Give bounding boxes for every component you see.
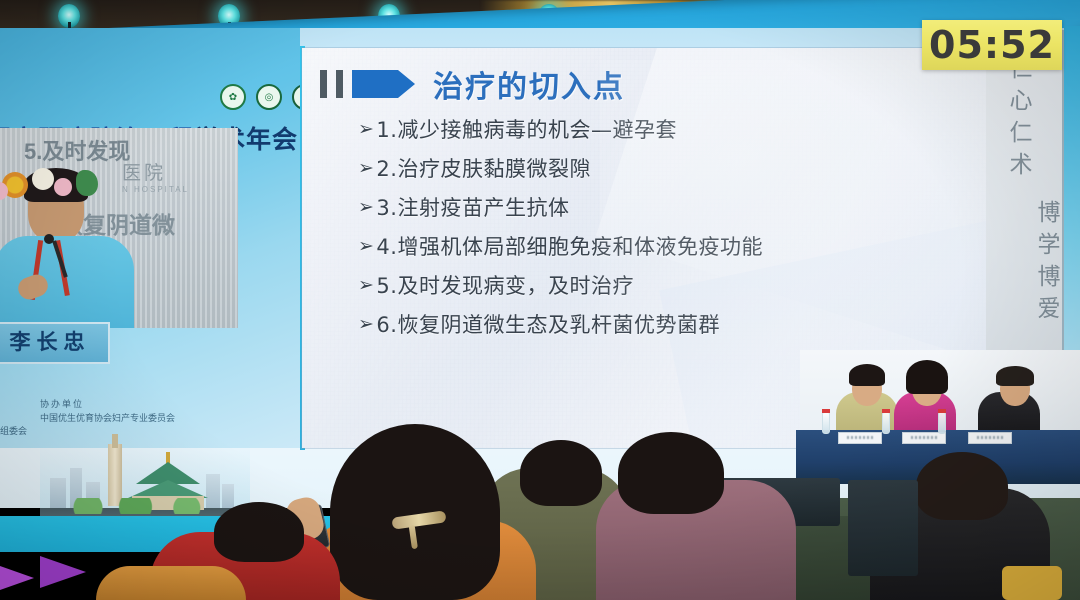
panelist-2-hair — [906, 360, 948, 394]
countdown-timer: 05:52 — [922, 20, 1062, 70]
hospital-logo-block: 医院 N HOSPITAL — [122, 158, 189, 194]
timer-value: 05:52 — [929, 23, 1055, 67]
water-bottle-cap — [882, 409, 890, 413]
bullet-marker-icon: ➢ — [358, 315, 374, 334]
audience-person-mauve-hair — [618, 432, 724, 514]
bullet-marker-icon: ➢ — [358, 198, 374, 217]
bullet-marker-icon: ➢ — [358, 120, 374, 139]
audience-person-front-hair — [330, 424, 500, 600]
speaker-nameplate: 李长忠 — [0, 322, 110, 364]
bullet-text: 4.增强机体局部细胞免疫和体液免疫功能 — [376, 237, 763, 258]
banner-column-1: 仁心仁术 — [1002, 56, 1036, 184]
panelist-1-name-card — [838, 432, 882, 444]
city-illustration — [40, 438, 250, 524]
emblem-1-icon: ✿ — [220, 84, 246, 110]
panelist-3-name-card — [968, 432, 1012, 444]
slide-bullet-6: ➢ 6.恢复阴道微生态及乳杆菌优势菌群 — [358, 315, 988, 336]
slide-bullet-1: ➢ 1.减少接触病毒的机会—避孕套 — [358, 120, 988, 141]
microphone-head — [44, 234, 54, 244]
water-bottle — [938, 412, 946, 434]
white-flower — [32, 168, 54, 190]
purple-arrow-graphic — [40, 556, 86, 588]
water-bottle — [882, 412, 890, 434]
bullet-marker-icon: ➢ — [358, 159, 374, 178]
sponsor-label: 协办单位 — [40, 398, 175, 412]
speaker-name: 李长忠 — [0, 324, 108, 362]
banner-column-2: 博学博爱 — [1030, 200, 1064, 328]
previous-slide-line-1: 5.及时发现 — [24, 134, 130, 166]
water-bottle-cap — [938, 409, 946, 413]
title-bar-icon — [320, 70, 327, 98]
slide-title-row: 治疗的切入点 — [320, 62, 625, 106]
bullet-text: 5.及时发现病变，及时治疗 — [376, 276, 634, 297]
title-arrow-icon — [352, 70, 398, 98]
tower-spire — [112, 434, 118, 448]
side-monitor — [848, 480, 918, 576]
slide-bullet-4: ➢ 4.增强机体局部细胞免疫和体液免疫功能 — [358, 237, 988, 258]
slide-title: 治疗的切入点 — [433, 62, 625, 106]
slide-bullet-3: ➢ 3.注射疫苗产生抗体 — [358, 198, 988, 219]
panelist-3-hair — [996, 366, 1034, 386]
emblem-2-icon: ◎ — [256, 84, 282, 110]
hospital-name-en: N HOSPITAL — [122, 185, 189, 194]
audience-person-red-hair — [214, 502, 304, 562]
foliage — [76, 170, 98, 196]
hospital-name-cn: 医院 — [122, 158, 189, 185]
chair-back — [1002, 566, 1062, 600]
audience-person-dark-hair — [916, 452, 1008, 520]
slide-bullet-list: ➢ 1.减少接触病毒的机会—避孕套 ➢ 2.治疗皮肤黏膜微裂隙 ➢ 3.注射疫苗… — [358, 120, 988, 354]
sponsor-name: 中国优生优育协会妇产专业委员会 — [40, 412, 175, 426]
slide-bullet-2: ➢ 2.治疗皮肤黏膜微裂隙 — [358, 159, 988, 180]
panelist-1-hair — [849, 364, 885, 386]
conference-hall-photo: ✿ ◎ ❋ 国宫颈癌防治工程学术年会 5.及时发现 恢复阴道微 李长忠 医院 N — [0, 0, 1080, 600]
audience-person-olive-hair — [520, 440, 602, 506]
purple-arrow-graphic-2 — [0, 566, 34, 590]
clock-tower — [108, 444, 122, 506]
bullet-marker-icon: ➢ — [358, 237, 374, 256]
bullet-text: 2.治疗皮肤黏膜微裂隙 — [376, 159, 591, 180]
bullet-text: 3.注射疫苗产生抗体 — [376, 198, 569, 219]
slide-bullet-5: ➢ 5.及时发现病变，及时治疗 — [358, 276, 988, 297]
speaker-video-inset: 5.及时发现 恢复阴道微 — [0, 128, 238, 328]
bullet-marker-icon: ➢ — [358, 276, 374, 295]
bullet-text: 1.减少接触病毒的机会—避孕套 — [376, 120, 677, 141]
sponsor-block: 协办单位 中国优生优育协会妇产专业委员会 — [40, 398, 175, 426]
pink-flower — [54, 178, 72, 196]
greenery — [50, 498, 240, 514]
audience-person-yellow-body — [96, 566, 246, 600]
flower-arrangement — [0, 168, 120, 228]
bullet-text: 6.恢复阴道微生态及乳杆菌优势菌群 — [376, 315, 720, 336]
sponsor-side-text: 组委会 — [0, 424, 27, 437]
title-bar-icon-2 — [336, 70, 343, 98]
water-bottle — [822, 412, 830, 434]
